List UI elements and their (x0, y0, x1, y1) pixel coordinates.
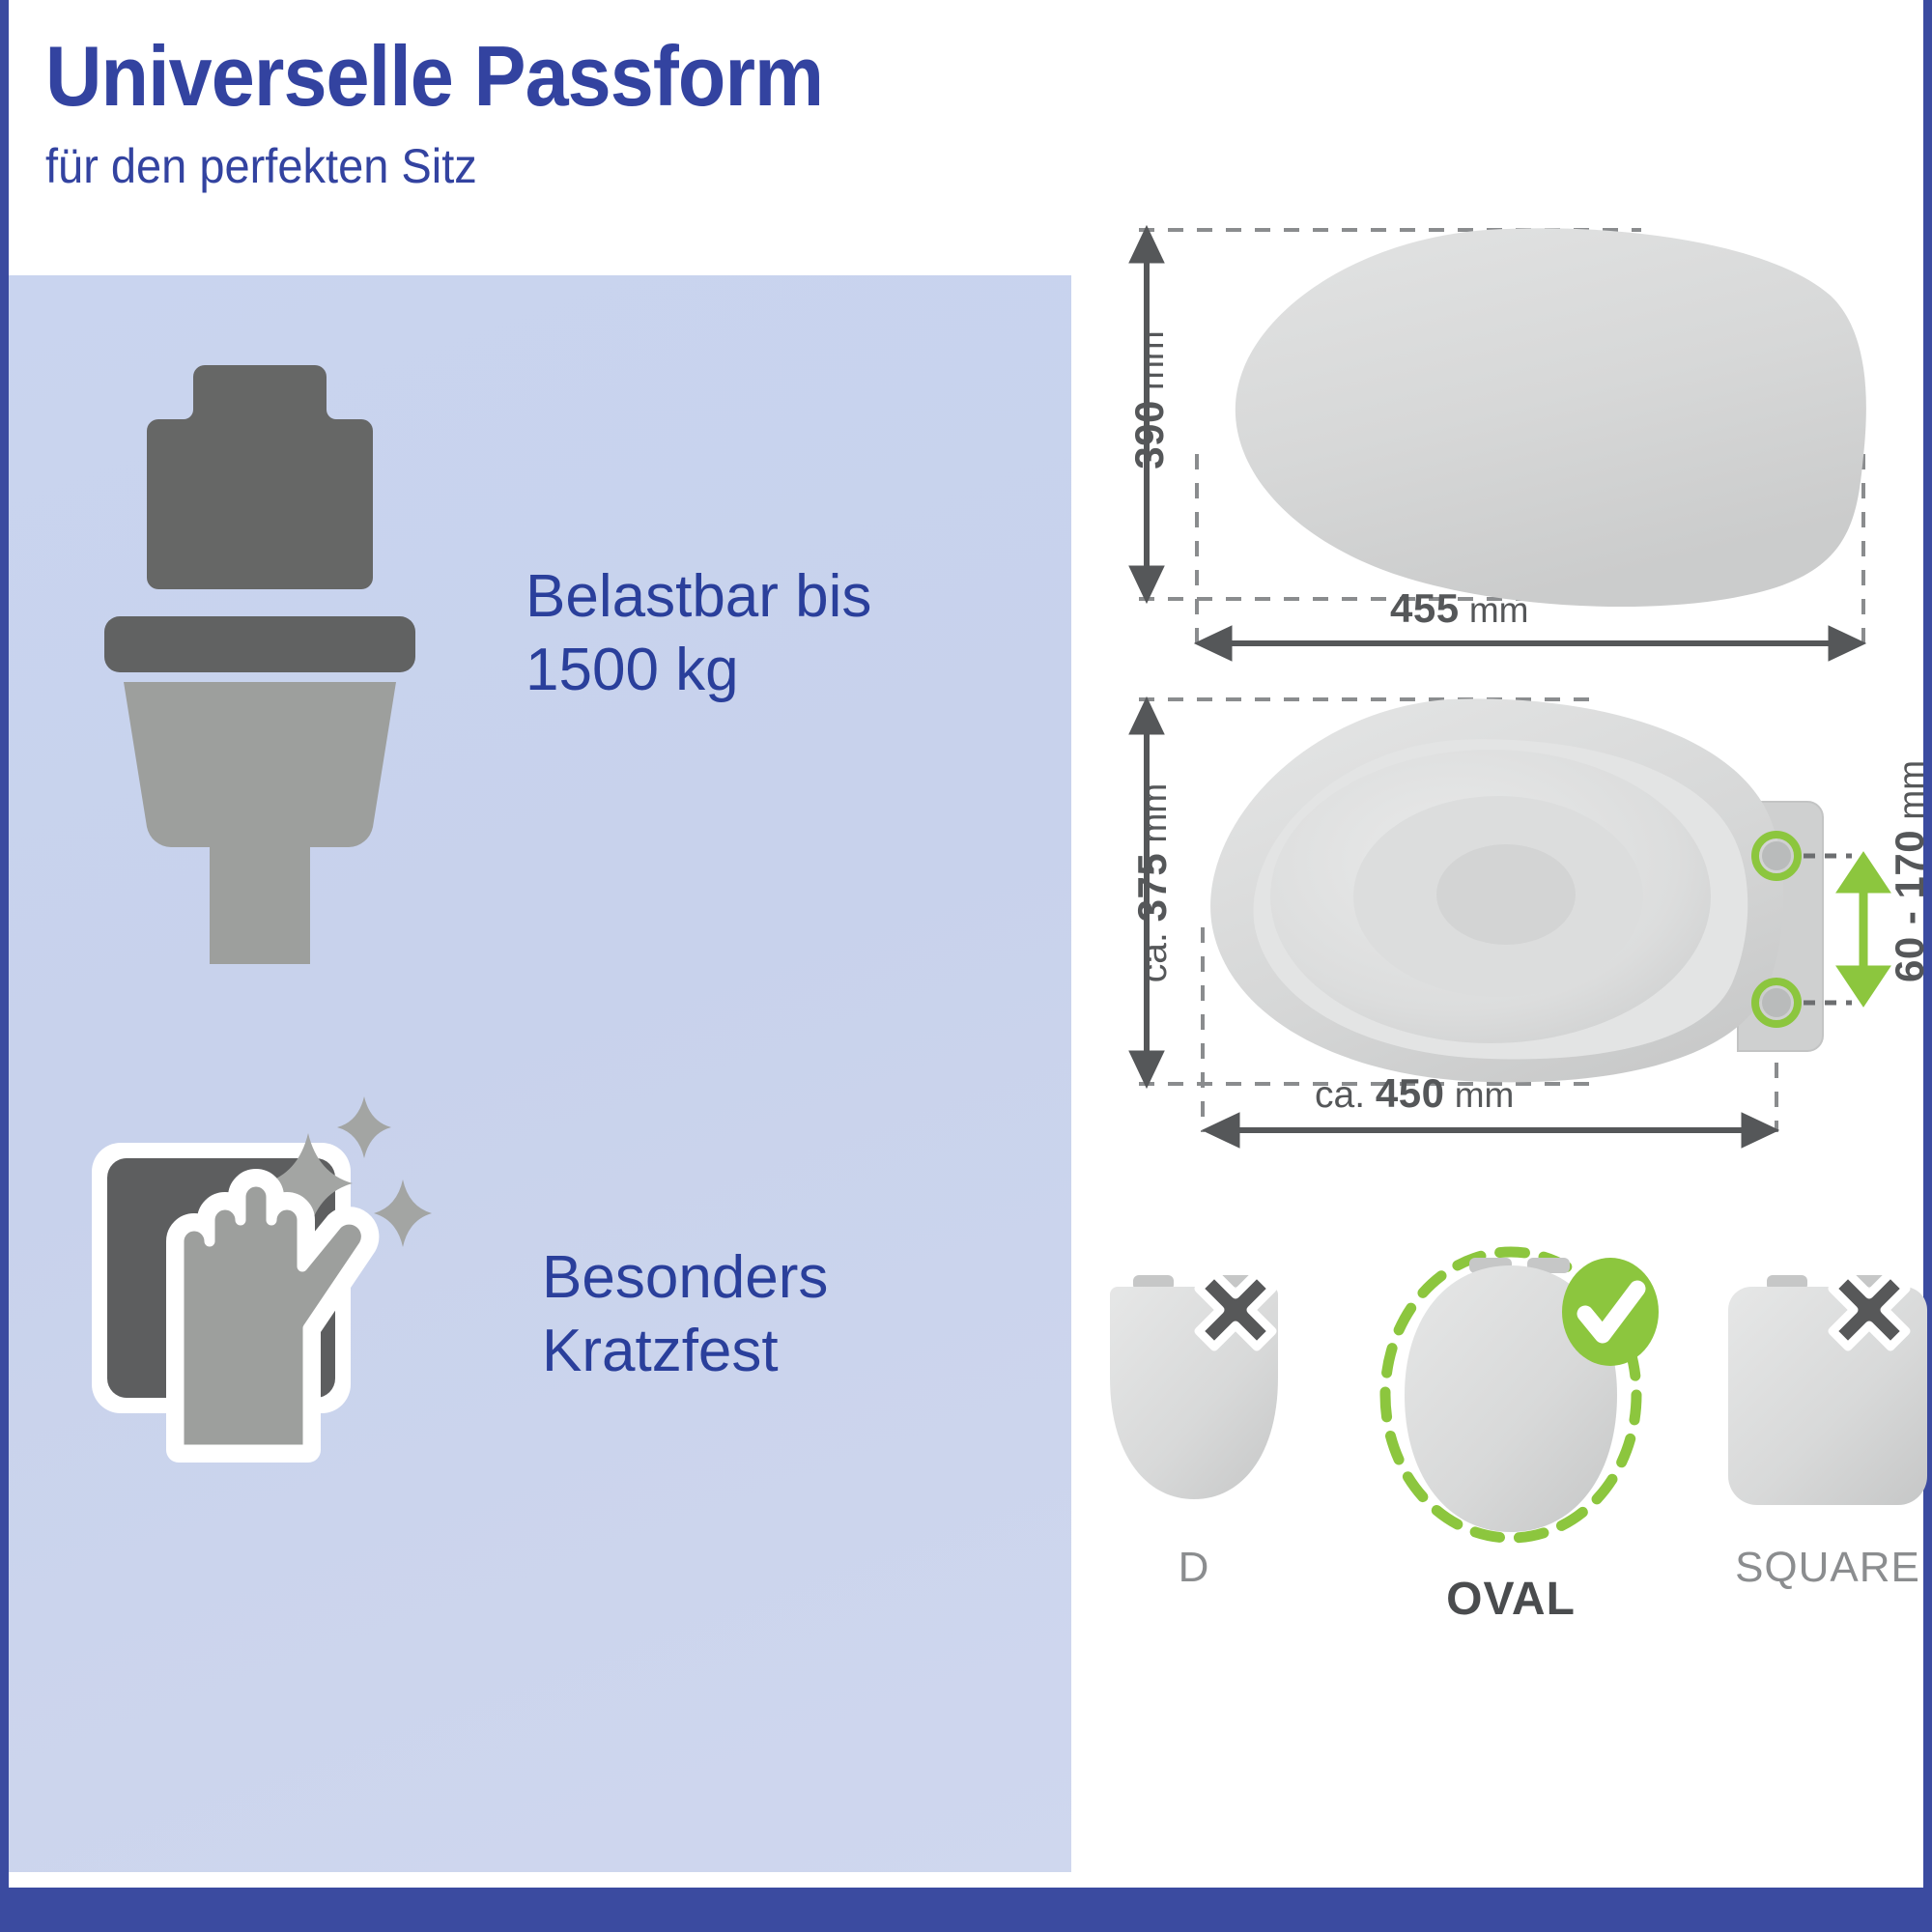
shape-comparison: D OVAL SQUARE (1091, 1236, 1931, 1700)
dimensions-column: 390 mm 455 mm (1071, 193, 1931, 1874)
feature-scratch-resistance-label: Besonders Kratzfest (542, 1241, 828, 1387)
shape-item-square (1728, 1273, 1927, 1505)
feature-scratch-resistance: Besonders Kratzfest (86, 1038, 1042, 1521)
page-title: Universelle Passform (45, 33, 1378, 120)
page-subtitle: für den perfekten Sitz (45, 141, 1407, 192)
shape-caption-d: D (1078, 1544, 1310, 1592)
features-panel: Belastbar bis 1500 kg (9, 275, 1071, 1872)
lid-height-label: 390 mm (1126, 289, 1173, 511)
weight-on-toilet-icon (100, 357, 419, 869)
lid-width-label: 455 mm (1390, 585, 1529, 632)
shape-caption-square: SQUARE (1712, 1544, 1932, 1592)
feature-load-capacity-label: Belastbar bis 1500 kg (526, 560, 871, 706)
infographic-frame: Universelle Passform für den perfekten S… (0, 0, 1932, 1932)
shape-item-oval (1385, 1252, 1659, 1538)
shape-caption-oval: OVAL (1395, 1573, 1627, 1626)
diagram-lid: 390 mm 455 mm (1100, 213, 1931, 676)
feature-load-capacity: Belastbar bis 1500 kg (100, 343, 1028, 884)
header: Universelle Passform für den perfekten S… (45, 33, 1494, 191)
seat-height-label: ca. 375 mm (1129, 738, 1176, 1028)
footer-bar (9, 1888, 1932, 1932)
diagram-seat: ca. 375 mm ca. 450 mm 60 - 170 mm (1100, 686, 1931, 1188)
hinge-spacing-label: 60 - 170 mm (1887, 726, 1932, 1016)
hand-sparkle-surface-icon (86, 1087, 434, 1473)
shape-item-d (1110, 1273, 1278, 1499)
seat-width-label: ca. 450 mm (1315, 1070, 1514, 1117)
